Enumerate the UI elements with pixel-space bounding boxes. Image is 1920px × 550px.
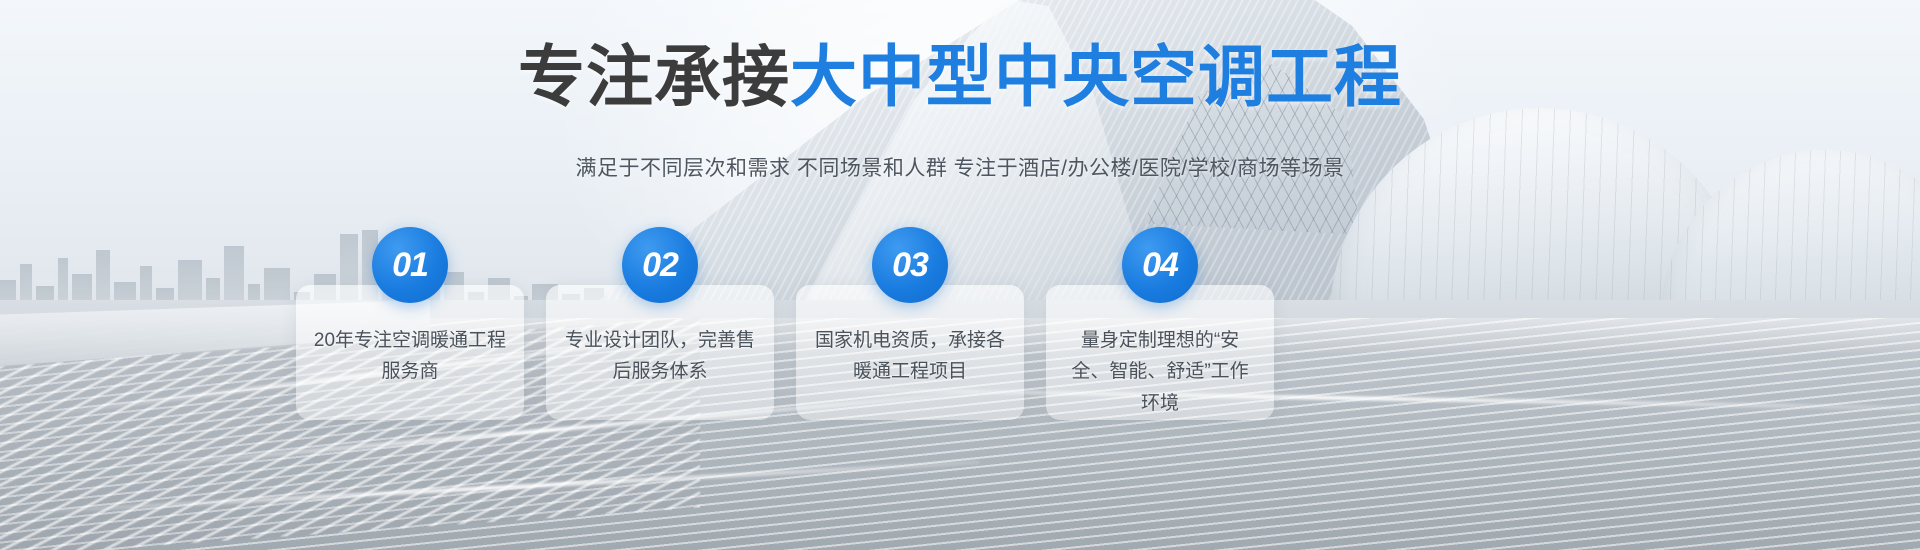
card-description: 20年专注空调暖通工程服务商 [312, 325, 508, 388]
hero-banner: 专注承接大中型中央空调工程 满足于不同层次和需求 不同场景和人群 专注于酒店/办… [0, 0, 1920, 550]
headline-blue-text: 大中型中央空调工程 [790, 40, 1402, 115]
card-number-badge: 02 [622, 227, 698, 303]
card-number-badge: 03 [872, 227, 948, 303]
card-description: 国家机电资质，承接各暖通工程项目 [812, 325, 1008, 388]
feature-card-list: 01 20年专注空调暖通工程服务商 02 专业设计团队，完善售后服务体系 03 … [296, 285, 1526, 435]
card-number-badge: 04 [1122, 227, 1198, 303]
card-description: 量身定制理想的“安全、智能、舒适”工作环境 [1062, 325, 1258, 419]
headline-dark-text: 专注承接 [518, 40, 790, 115]
page-subtitle: 满足于不同层次和需求 不同场景和人群 专注于酒店/办公楼/医院/学校/商场等场景 [0, 152, 1920, 182]
feature-card[interactable]: 03 国家机电资质，承接各暖通工程项目 [796, 285, 1024, 420]
feature-card[interactable]: 02 专业设计团队，完善售后服务体系 [546, 285, 774, 420]
card-number-badge: 01 [372, 227, 448, 303]
card-description: 专业设计团队，完善售后服务体系 [562, 325, 758, 388]
page-title: 专注承接大中型中央空调工程 [0, 44, 1920, 111]
feature-card[interactable]: 01 20年专注空调暖通工程服务商 [296, 285, 524, 420]
feature-card[interactable]: 04 量身定制理想的“安全、智能、舒适”工作环境 [1046, 285, 1274, 420]
